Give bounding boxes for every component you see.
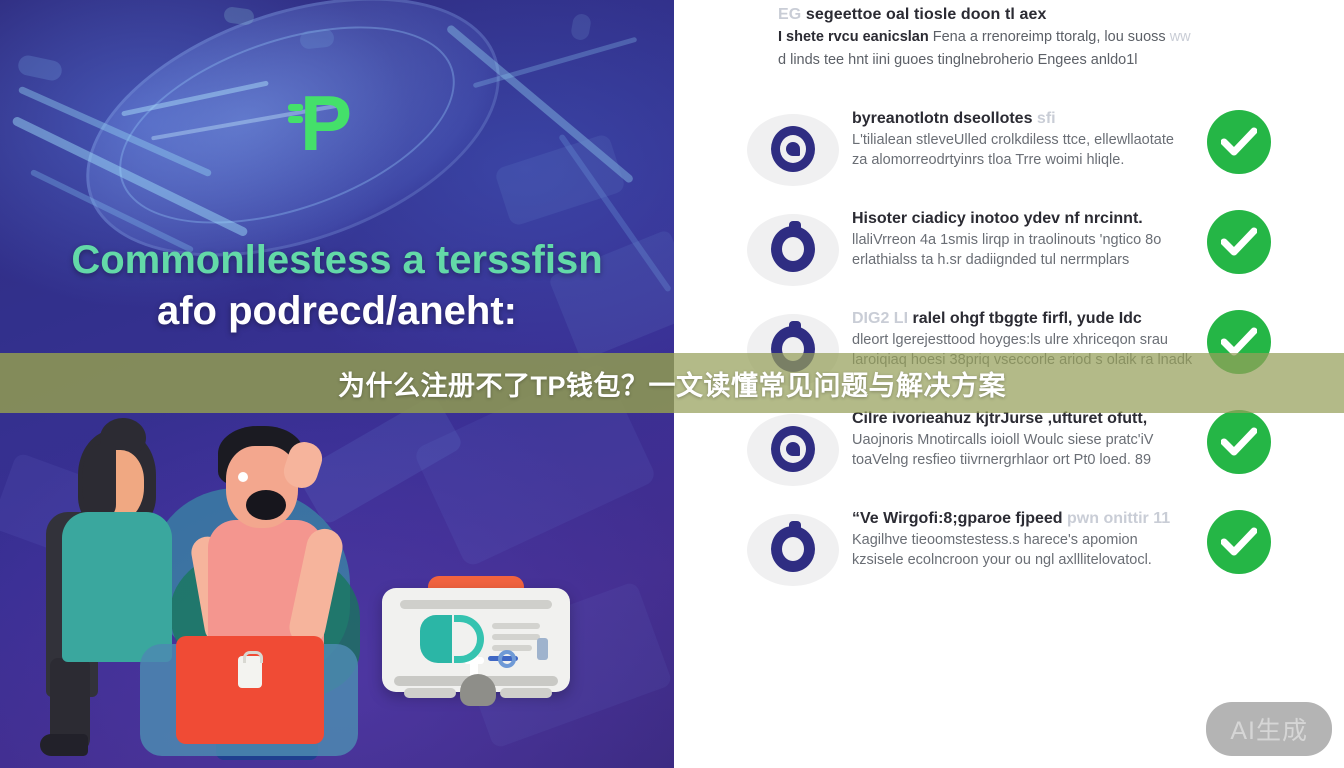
article-cover-image: P Commonllestess a terssfisn afo podrecd… (0, 0, 1344, 768)
mouse-icon (460, 674, 496, 706)
wallet-circle-icon (747, 114, 839, 186)
list-item-heading-faint: DIG2 LI (852, 310, 908, 327)
man-mouth-open (246, 490, 286, 520)
list-item-heading-text: byreanotlotn dseollotes (852, 110, 1032, 127)
device-text-line (492, 623, 540, 629)
intro-paragraph-line2: d linds tee hnt iini guoes tinglnebroher… (778, 50, 1318, 70)
feature-row-list: byreanotlotn dseollotes sfi L'tilialean … (674, 100, 1344, 600)
woman-hair-front (82, 444, 116, 514)
wallet-circle-icon (747, 414, 839, 486)
device-text-line (492, 634, 540, 640)
shield-lock-icon (420, 615, 452, 663)
tech-chip-shape (223, 6, 255, 26)
briefcase-lock-icon (238, 656, 262, 688)
intro-line1-faint: ww (1170, 29, 1191, 45)
tech-panel-shape (494, 133, 627, 227)
device-chip-icon (537, 638, 548, 660)
key-glyph-icon (771, 526, 815, 572)
device-header-bar (400, 600, 552, 609)
list-item[interactable]: Hisoter ciadicy inotoo ydev nf nrcinnt. … (674, 200, 1344, 300)
key-circle-icon (747, 514, 839, 586)
list-item-heading-faint: pwn onittir 11 (1067, 510, 1170, 527)
tech-chip-shape (570, 13, 592, 42)
list-item-heading-faint: sfi (1037, 110, 1056, 127)
two-people-illustration (40, 408, 370, 768)
list-item-heading-text: “Ve Wirgofi:8;gparoe fjpeed (852, 510, 1063, 527)
tech-chip-shape (16, 54, 63, 83)
intro-paragraph-line1: I shete rvcu eanicslan Fena a rrenoreimp… (778, 27, 1318, 47)
intro-heading: EG segeettoe oal tiosle doon tl aex (778, 6, 1318, 24)
key-glyph-icon (771, 226, 815, 272)
page-title: 为什么注册不了TP钱包？一文读懂常见问题与解决方案 (0, 353, 1344, 413)
intro-heading-text: segeettoe oal tiosle doon tl aex (806, 6, 1047, 23)
woman-shoe (40, 734, 88, 756)
list-item-heading-text: ralel ohgf tbggte firfl, yude Idc (912, 310, 1141, 327)
check-icon (1207, 210, 1271, 274)
wallet-glyph-icon (771, 426, 815, 472)
title-overlay-band: 为什么注册不了TP钱包？一文读懂常见问题与解决方案 (0, 353, 1344, 413)
check-icon (1207, 510, 1271, 574)
intro-line1-text: Fena a rrenoreimp ttoralg, lou suoss (933, 29, 1166, 45)
brand-logo-p: P (300, 84, 350, 162)
woman-torso (62, 512, 172, 662)
man-eye (238, 472, 248, 482)
list-item[interactable]: “Ve Wirgofi:8;gparoe fjpeed pwn onittir … (674, 500, 1344, 600)
check-icon (1207, 110, 1271, 174)
secure-device-illustration (382, 588, 570, 706)
device-foot (500, 688, 552, 698)
intro-heading-faint: EG (778, 6, 801, 23)
list-item-heading-text: Hisoter ciadicy inotoo ydev nf nrcinnt. (852, 210, 1143, 227)
magnifier-icon (498, 650, 516, 668)
wallet-glyph-icon (771, 126, 815, 172)
hero-headline: Commonllestess a terssfisn afo podrecd/a… (0, 238, 674, 334)
device-text-line (492, 645, 532, 651)
list-item[interactable]: byreanotlotn dseollotes sfi L'tilialean … (674, 100, 1344, 200)
hero-headline-line2: afo podrecd/aneht: (18, 289, 656, 334)
key-circle-icon (747, 214, 839, 286)
intro-line1-bold: I shete rvcu eanicslan (778, 29, 929, 45)
hero-headline-line1: Commonllestess a terssfisn (18, 238, 656, 283)
check-icon (1207, 410, 1271, 474)
list-item[interactable]: Cilre ivorieahuz kjtrJurse ,ufturet ofut… (674, 400, 1344, 500)
intro-block: EG segeettoe oal tiosle doon tl aex I sh… (778, 6, 1318, 70)
shield-outline-icon (454, 615, 484, 663)
device-foot (404, 688, 456, 698)
ai-generated-watermark: AI生成 (1206, 702, 1332, 756)
